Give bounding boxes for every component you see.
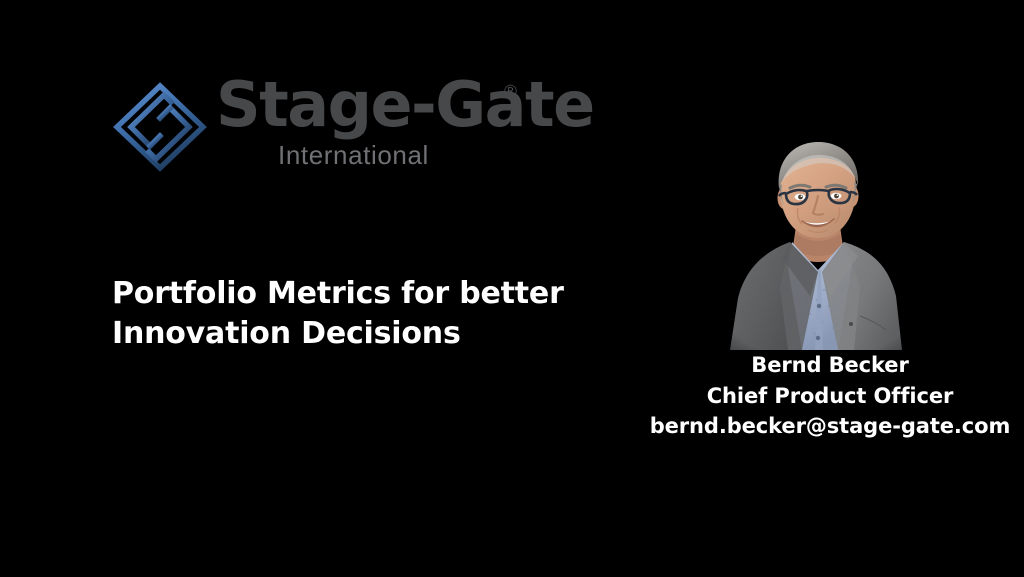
- logo-wordmark-text: Stage-Gate: [216, 74, 594, 136]
- stage-gate-wordmark: Stage-Gate ® International: [216, 78, 536, 178]
- speaker-name: Bernd Becker: [640, 350, 1020, 381]
- speaker-role: Chief Product Officer: [640, 381, 1020, 412]
- registered-trademark-icon: ®: [502, 84, 519, 101]
- speaker-email: bernd.becker@stage-gate.com: [640, 411, 1020, 442]
- presentation-slide: Stage-Gate ® International Portfolio Met…: [0, 0, 1024, 577]
- page-title: Portfolio Metrics for better Innovation …: [112, 274, 582, 354]
- stage-gate-diamond-logo-icon: [112, 81, 208, 173]
- speaker-portrait-photo: [718, 138, 918, 350]
- speaker-info: Bernd Becker Chief Product Officer bernd…: [640, 350, 1020, 442]
- stage-gate-logo: Stage-Gate ® International: [112, 78, 532, 178]
- logo-subtitle-text: International: [278, 140, 429, 171]
